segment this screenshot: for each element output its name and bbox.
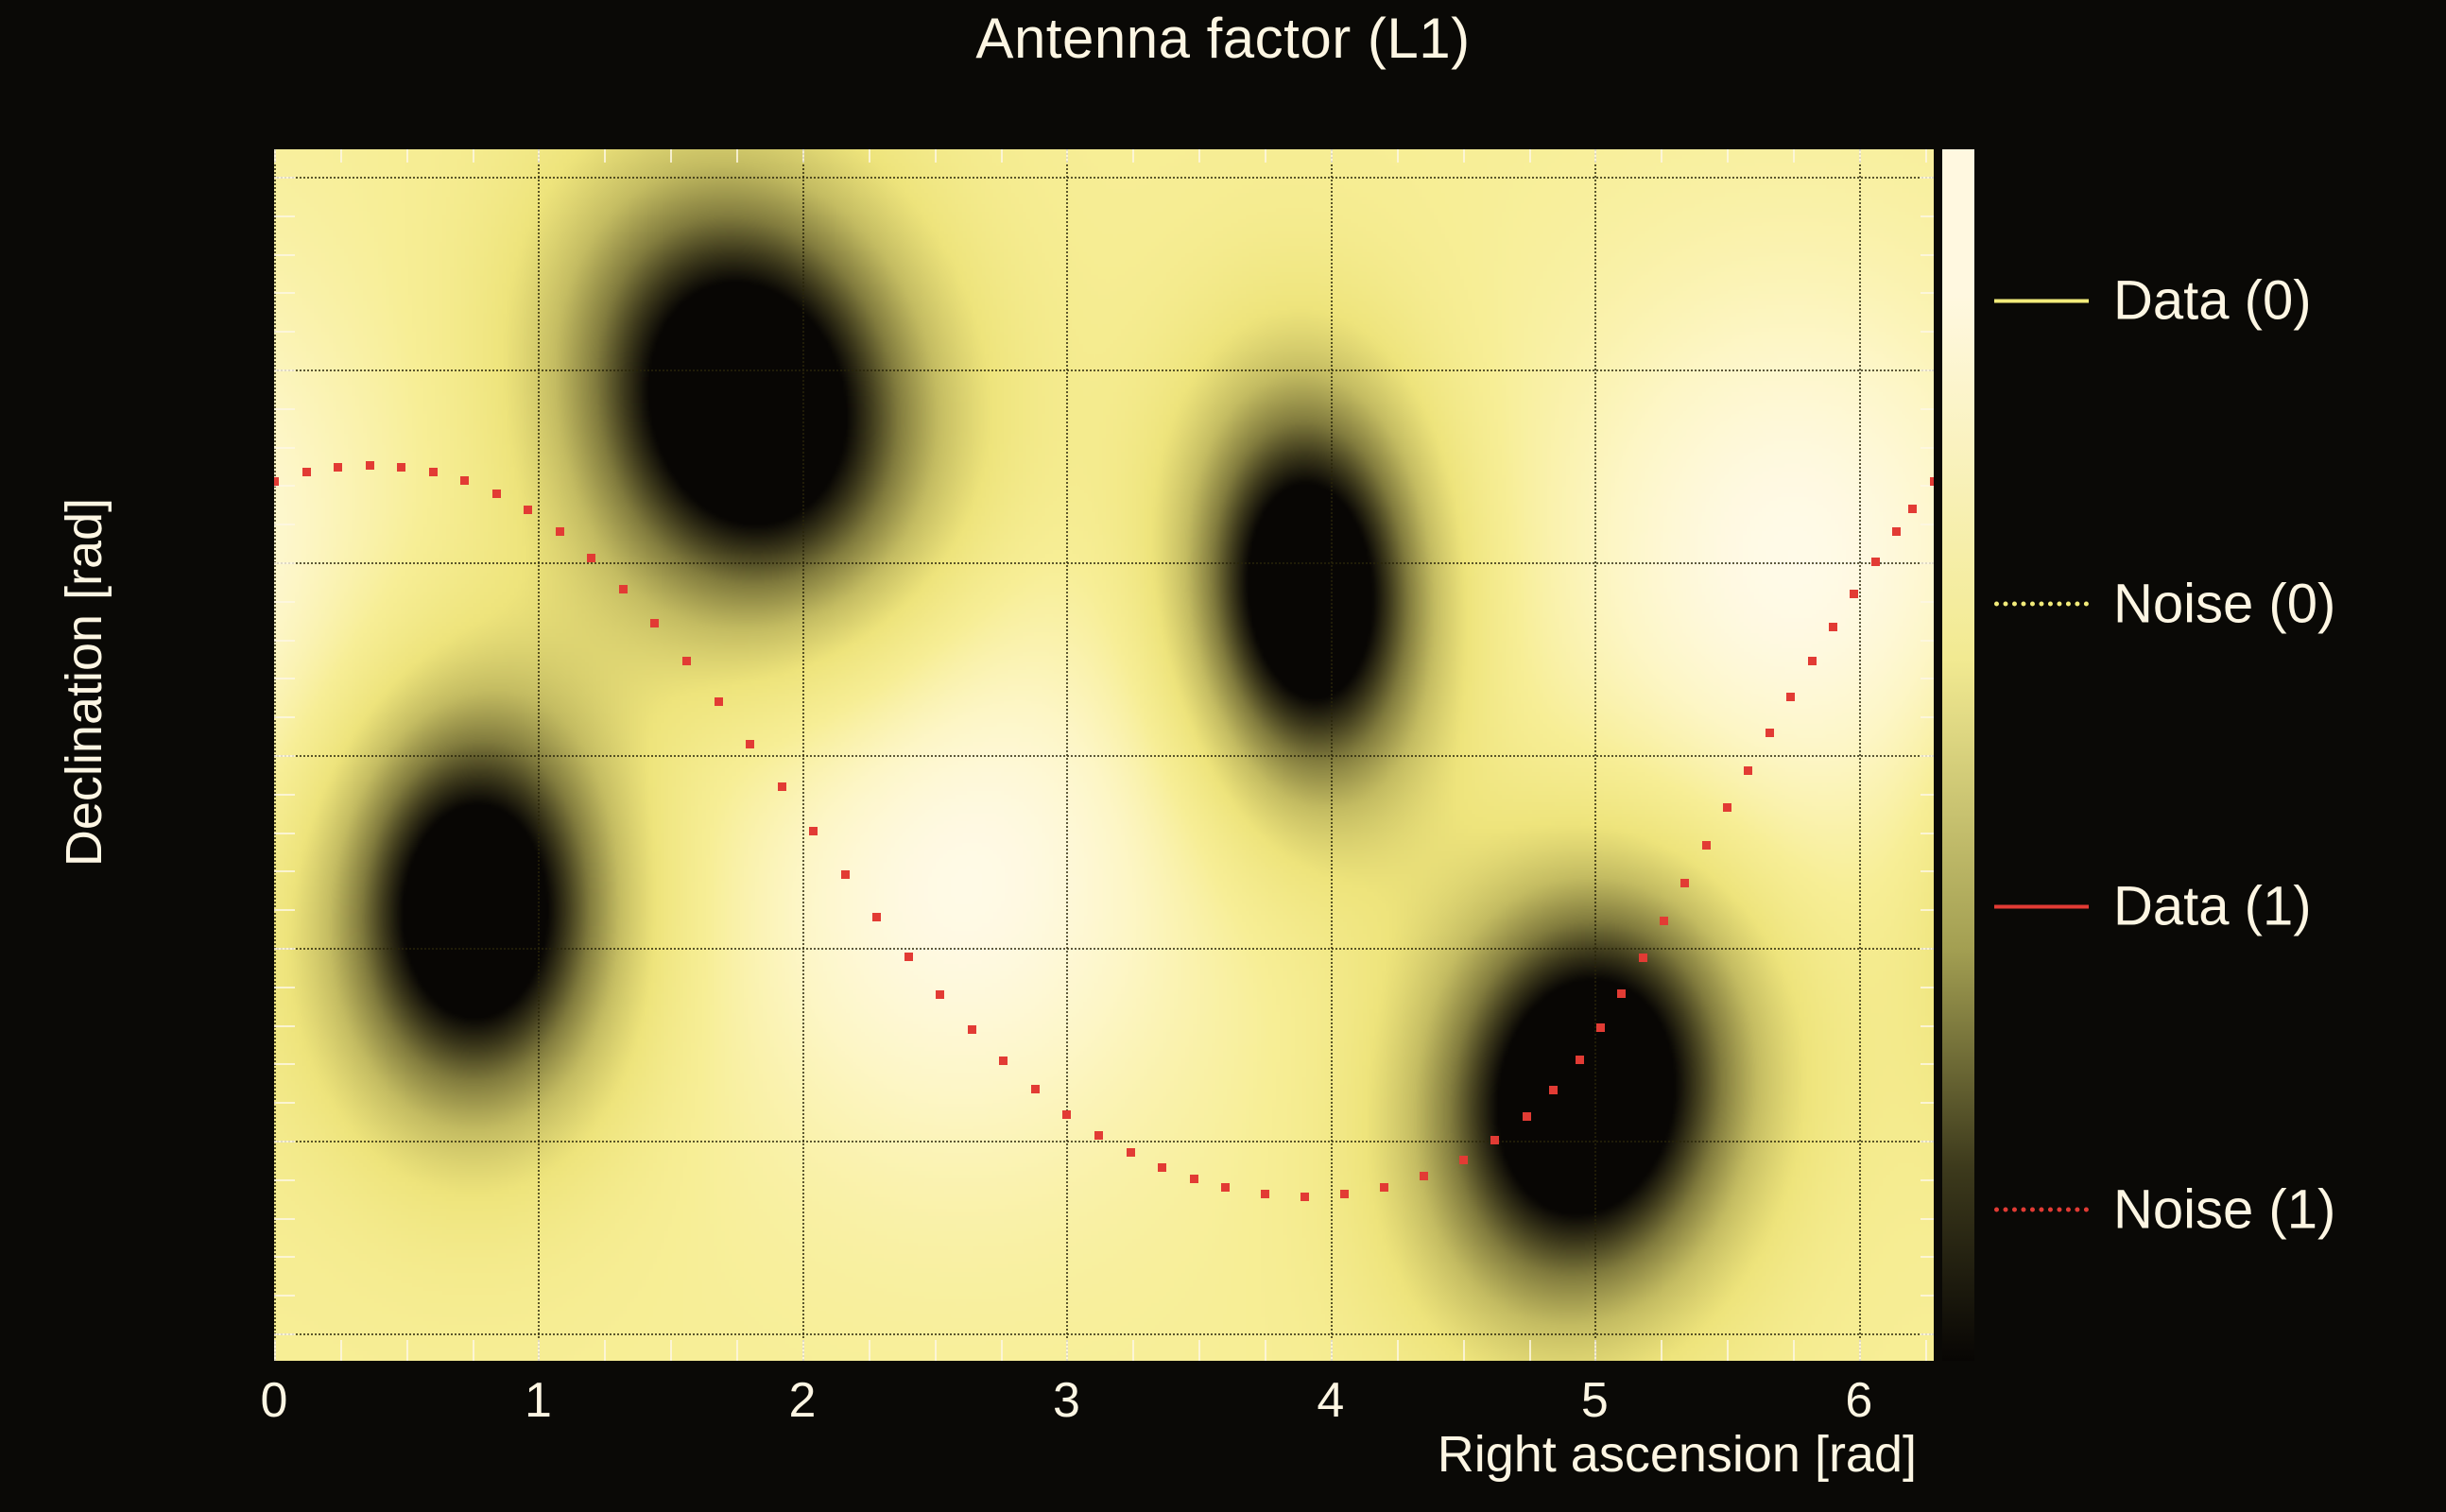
- curve-point: [1930, 477, 1934, 486]
- minor-tick-x: [473, 149, 474, 163]
- minor-tick-y: [274, 1333, 295, 1335]
- minor-tick-x: [1793, 149, 1795, 163]
- curve-point: [1660, 917, 1668, 925]
- minor-tick-y: [1921, 292, 1934, 294]
- minor-tick-y: [274, 1063, 295, 1065]
- minor-tick-y: [1921, 755, 1934, 757]
- grid-line-horizontal: [274, 755, 1934, 757]
- x-axis-label: Right ascension [rad]: [0, 1425, 1934, 1484]
- legend-item[interactable]: Noise (0): [1994, 572, 2335, 635]
- minor-tick-y: [274, 408, 295, 410]
- minor-tick-y: [1921, 1102, 1934, 1104]
- minor-tick-y: [1921, 678, 1934, 679]
- minor-tick-y: [1921, 640, 1934, 642]
- legend-item-label: Data (1): [2113, 875, 2312, 938]
- minor-tick-x: [1132, 1340, 1134, 1361]
- minor-tick-y: [1921, 794, 1934, 796]
- curve-point: [1576, 1056, 1584, 1064]
- curve-point: [936, 990, 944, 999]
- legend-item-label: Data (0): [2113, 269, 2312, 333]
- minor-tick-y: [274, 1179, 295, 1181]
- minor-tick-y: [274, 987, 295, 988]
- minor-tick-x: [340, 1340, 342, 1361]
- curve-point: [1127, 1148, 1135, 1157]
- minor-tick-x: [1727, 149, 1729, 163]
- minor-tick-x: [935, 1340, 937, 1361]
- curve-point: [1380, 1183, 1388, 1192]
- curve-point: [1523, 1112, 1531, 1121]
- minor-tick-x: [473, 1340, 474, 1361]
- minor-tick-x: [1132, 149, 1134, 163]
- x-tick-label: 6: [1845, 1372, 1872, 1429]
- minor-tick-y: [274, 1102, 295, 1104]
- y-axis-label: Declination [rad]: [51, 149, 117, 1361]
- minor-tick-y: [274, 447, 295, 449]
- minor-tick-y: [274, 870, 295, 872]
- legend-item[interactable]: Data (0): [1994, 269, 2312, 333]
- curve-point: [492, 490, 501, 498]
- curve-point: [682, 657, 691, 665]
- curve-point: [1908, 505, 1917, 513]
- curve-point: [1617, 989, 1626, 998]
- minor-tick-y: [1921, 177, 1934, 179]
- minor-tick-y: [1921, 1179, 1934, 1181]
- minor-tick-x: [1925, 1340, 1927, 1361]
- minor-tick-y: [274, 755, 295, 757]
- minor-tick-y: [274, 909, 295, 911]
- minor-tick-x: [1925, 149, 1927, 163]
- x-tick-label: 3: [1053, 1372, 1080, 1429]
- curve-point: [872, 913, 881, 921]
- minor-tick-x: [1463, 149, 1465, 163]
- minor-tick-x: [1859, 1340, 1861, 1361]
- minor-tick-x: [1198, 149, 1200, 163]
- minor-tick-x: [1331, 1340, 1333, 1361]
- minor-tick-x: [1727, 1340, 1729, 1361]
- minor-tick-x: [869, 1340, 870, 1361]
- minor-tick-x: [1594, 149, 1596, 163]
- curve-point: [1420, 1172, 1428, 1180]
- minor-tick-y: [1921, 870, 1934, 872]
- minor-tick-y: [1921, 524, 1934, 525]
- curve-point: [1340, 1190, 1349, 1198]
- minor-tick-x: [802, 149, 804, 163]
- curve-point: [460, 476, 469, 485]
- minor-tick-y: [1921, 948, 1934, 950]
- curve-point: [778, 782, 786, 791]
- curve-point: [809, 827, 818, 835]
- minor-tick-y: [274, 1025, 295, 1027]
- minor-tick-x: [1066, 149, 1068, 163]
- minor-tick-x: [406, 1340, 408, 1361]
- curve-point: [1261, 1190, 1269, 1198]
- minor-tick-y: [274, 1256, 295, 1258]
- minor-tick-x: [1397, 1340, 1399, 1361]
- minor-tick-y: [274, 640, 295, 642]
- curve-point: [1031, 1085, 1040, 1093]
- minor-tick-x: [1529, 149, 1531, 163]
- minor-tick-x: [1661, 149, 1662, 163]
- curve-point: [1639, 954, 1647, 962]
- minor-tick-y: [274, 1141, 295, 1143]
- minor-tick-x: [802, 1340, 804, 1361]
- legend-item-label: Noise (0): [2113, 572, 2335, 635]
- curve-point: [1786, 693, 1795, 701]
- minor-tick-y: [274, 292, 295, 294]
- minor-tick-x: [869, 149, 870, 163]
- minor-tick-x: [736, 1340, 738, 1361]
- curve-point: [1680, 879, 1689, 887]
- curve-point: [1158, 1163, 1166, 1172]
- minor-tick-y: [1921, 909, 1934, 911]
- curve-point: [650, 619, 659, 627]
- curve-point: [1766, 729, 1774, 737]
- curve-point: [1549, 1086, 1558, 1094]
- minor-tick-y: [1921, 1141, 1934, 1143]
- curve-point: [1829, 623, 1837, 631]
- minor-tick-y: [1921, 1025, 1934, 1027]
- minor-tick-y: [1921, 447, 1934, 449]
- minor-tick-x: [670, 149, 672, 163]
- minor-tick-y: [1921, 1333, 1934, 1335]
- minor-tick-y: [274, 716, 295, 718]
- minor-tick-y: [1921, 1063, 1934, 1065]
- curve-point: [1808, 657, 1817, 665]
- minor-tick-y: [274, 948, 295, 950]
- curve-point: [715, 697, 723, 706]
- x-tick-label: 0: [261, 1372, 288, 1429]
- curve-point: [302, 468, 311, 476]
- minor-tick-y: [274, 254, 295, 256]
- curve-point: [968, 1025, 976, 1034]
- grid-line-horizontal: [274, 1333, 1934, 1335]
- minor-tick-x: [538, 149, 540, 163]
- minor-tick-x: [1331, 149, 1333, 163]
- minor-tick-y: [274, 369, 295, 371]
- heatmap-plot-area[interactable]: [274, 149, 1934, 1361]
- curve-point: [429, 468, 438, 476]
- legend-swatch-icon: [1994, 601, 2089, 606]
- legend-swatch-icon: [1994, 1207, 2089, 1211]
- minor-tick-x: [274, 1340, 276, 1361]
- minor-tick-y: [1921, 987, 1934, 988]
- minor-tick-y: [274, 794, 295, 796]
- curve-point: [1892, 527, 1901, 536]
- minor-tick-x: [935, 149, 937, 163]
- legend-swatch-icon: [1994, 904, 2089, 908]
- minor-tick-y: [1921, 408, 1934, 410]
- legend-item-label: Noise (1): [2113, 1177, 2335, 1241]
- curve-point: [397, 463, 405, 472]
- legend: Data (0)Noise (0)Data (1)Noise (1): [1994, 149, 2438, 1361]
- x-tick-label: 2: [788, 1372, 816, 1429]
- grid-line-horizontal: [274, 177, 1934, 179]
- curve-point: [1744, 766, 1752, 775]
- minor-tick-x: [538, 1340, 540, 1361]
- minor-tick-y: [274, 215, 295, 217]
- curve-point: [619, 585, 628, 593]
- curve-point: [366, 461, 374, 470]
- minor-tick-x: [406, 149, 408, 163]
- curve-point: [1850, 590, 1858, 598]
- minor-tick-x: [1265, 149, 1266, 163]
- minor-tick-y: [1921, 1295, 1934, 1297]
- minor-tick-x: [1661, 1340, 1662, 1361]
- curve-point: [334, 463, 342, 472]
- minor-tick-y: [274, 1218, 295, 1220]
- minor-tick-y: [1921, 1218, 1934, 1220]
- minor-tick-y: [1921, 562, 1934, 564]
- minor-tick-x: [1594, 1340, 1596, 1361]
- legend-swatch-icon: [1994, 299, 2089, 302]
- curve-point: [1094, 1131, 1103, 1140]
- page-title: Antenna factor (L1): [0, 6, 2446, 71]
- colorbar: [1942, 149, 1974, 1361]
- curve-point: [1723, 803, 1731, 812]
- minor-tick-x: [1001, 1340, 1003, 1361]
- minor-tick-y: [274, 331, 295, 333]
- x-tick-label: 1: [525, 1372, 552, 1429]
- x-tick-label: 5: [1581, 1372, 1609, 1429]
- minor-tick-x: [1001, 149, 1003, 163]
- minor-tick-x: [1793, 1340, 1795, 1361]
- minor-tick-y: [1921, 833, 1934, 834]
- legend-item[interactable]: Noise (1): [1994, 1177, 2335, 1241]
- x-tick-label: 4: [1317, 1372, 1344, 1429]
- minor-tick-x: [604, 149, 606, 163]
- curve-point: [1871, 558, 1880, 566]
- legend-item[interactable]: Data (1): [1994, 875, 2312, 938]
- curve-point: [1301, 1193, 1309, 1201]
- minor-tick-x: [1529, 1340, 1531, 1361]
- minor-tick-y: [1921, 215, 1934, 217]
- minor-tick-y: [274, 833, 295, 834]
- curve-point: [999, 1057, 1008, 1065]
- minor-tick-x: [340, 149, 342, 163]
- curve-point: [587, 554, 595, 562]
- minor-tick-y: [1921, 369, 1934, 371]
- curve-point: [1221, 1183, 1230, 1192]
- curve-point: [1062, 1110, 1071, 1119]
- y-axis-label-text: Declination [rad]: [55, 498, 113, 867]
- minor-tick-x: [670, 1340, 672, 1361]
- minor-tick-x: [1463, 1340, 1465, 1361]
- minor-tick-y: [1921, 1256, 1934, 1258]
- curve-point: [1702, 841, 1711, 850]
- minor-tick-x: [1265, 1340, 1266, 1361]
- grid-line-horizontal: [274, 369, 1934, 371]
- grid-line-horizontal: [274, 562, 1934, 564]
- grid-line-horizontal: [274, 1141, 1934, 1143]
- curve-point: [841, 870, 850, 879]
- minor-tick-x: [736, 149, 738, 163]
- minor-tick-y: [274, 524, 295, 525]
- minor-tick-y: [1921, 601, 1934, 603]
- minor-tick-y: [274, 1295, 295, 1297]
- curve-point: [1596, 1023, 1605, 1032]
- minor-tick-x: [1198, 1340, 1200, 1361]
- minor-tick-y: [274, 678, 295, 679]
- curve-point: [746, 740, 754, 748]
- minor-tick-y: [274, 601, 295, 603]
- curve-point: [274, 477, 279, 486]
- minor-tick-y: [1921, 331, 1934, 333]
- curve-point: [1459, 1156, 1468, 1164]
- curve-point: [524, 506, 532, 514]
- minor-tick-x: [604, 1340, 606, 1361]
- minor-tick-x: [1397, 149, 1399, 163]
- minor-tick-y: [274, 177, 295, 179]
- grid-line-horizontal: [274, 948, 1934, 950]
- curve-point: [1490, 1136, 1499, 1144]
- curve-point: [556, 527, 564, 536]
- curve-point: [1190, 1175, 1198, 1183]
- minor-tick-y: [1921, 716, 1934, 718]
- minor-tick-y: [274, 562, 295, 564]
- minor-tick-y: [1921, 254, 1934, 256]
- minor-tick-x: [1066, 1340, 1068, 1361]
- minor-tick-x: [274, 149, 276, 163]
- curve-point: [904, 953, 913, 961]
- minor-tick-x: [1859, 149, 1861, 163]
